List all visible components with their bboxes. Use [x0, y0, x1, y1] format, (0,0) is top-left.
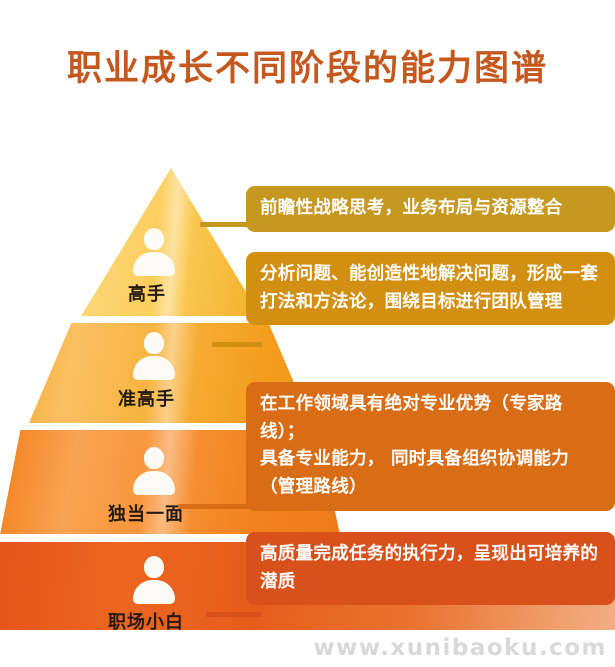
person-icon-body	[133, 471, 175, 495]
person-icon-body	[133, 252, 175, 276]
person-icon	[131, 447, 177, 493]
pyramid-label-level-1: 高手	[128, 280, 166, 306]
infographic-canvas: 职业成长不同阶段的能力图谱 高手 准高手 独当一面 职场小白	[0, 0, 615, 667]
person-icon	[131, 332, 177, 378]
person-icon-body	[133, 580, 175, 604]
connector-line-2	[212, 342, 262, 347]
person-icon-body	[133, 356, 175, 380]
description-box-level-4: 高质量完成任务的执行力，呈现出可培养的潜质	[246, 532, 615, 605]
description-box-level-1: 前瞻性战略思考，业务布局与资源整合	[246, 186, 615, 232]
page-title: 职业成长不同阶段的能力图谱	[0, 40, 615, 91]
person-icon	[131, 556, 177, 602]
watermark: www.xunibaoku.com	[313, 635, 607, 661]
pyramid-label-level-3: 独当一面	[108, 500, 184, 526]
pyramid-label-level-4: 职场小白	[108, 608, 184, 634]
person-icon	[131, 228, 177, 274]
person-icon-head	[144, 556, 164, 578]
person-icon-head	[144, 228, 164, 250]
person-icon-head	[144, 332, 164, 354]
person-icon-head	[144, 447, 164, 469]
description-box-level-3: 在工作领域具有绝对专业优势（专家路线）； 具备专业能力， 同时具备组织协调能力（…	[246, 382, 615, 511]
description-box-level-2: 分析问题、能创造性地解决问题，形成一套打法和方法论，围绕目标进行团队管理	[246, 252, 615, 325]
connector-line-4	[206, 612, 262, 617]
pyramid-label-level-2: 准高手	[118, 385, 175, 411]
